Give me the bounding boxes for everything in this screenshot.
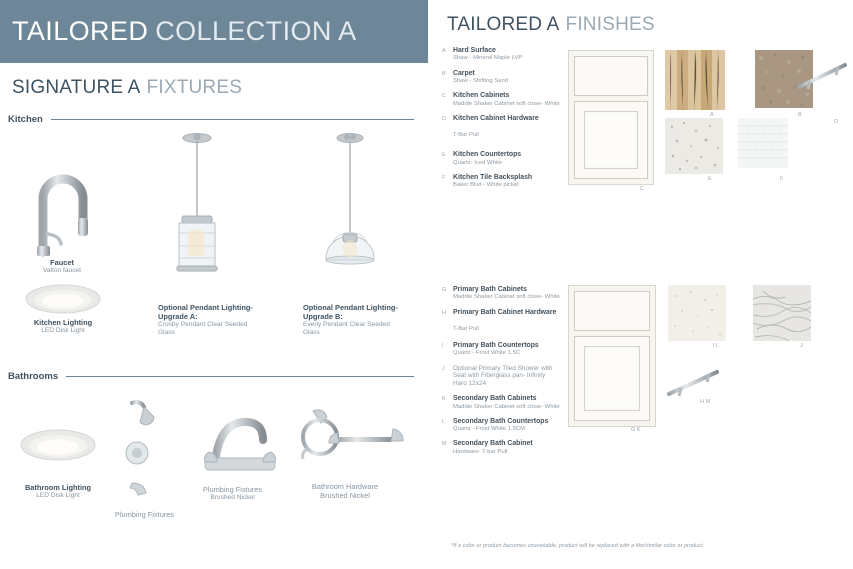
kitchen-cabinet-door-swatch: [568, 50, 654, 185]
legend-title: Kitchen Tile Backsplash: [453, 174, 560, 182]
legend-sub: Maddie Shaker Cabinet soft close- White: [453, 294, 560, 301]
legend-key: K: [442, 395, 453, 411]
finishes-legend-bottom: G Primary Bath Cabinets Maddie Shaker Ca…: [442, 286, 560, 463]
legend-key: G: [442, 286, 453, 302]
swatch-key-gk: G K: [631, 427, 640, 433]
left-panel: TAILORED COLLECTION A SIGNATURE A FIXTUR…: [0, 0, 428, 569]
swatch-key-f: F: [780, 176, 783, 182]
plumbing-fixtures-caption-2: Plumbing Fixtures Brushed Nickel: [185, 485, 280, 502]
signature-fixtures-heading: SIGNATURE A FIXTURES: [12, 77, 242, 99]
bath-cabinet-door-swatch: [568, 285, 656, 427]
legend-item: E Kitchen Countertops Quartz- Iced White: [442, 151, 560, 167]
swatch-key-e: E: [708, 176, 712, 182]
disk-light-icon: [25, 283, 101, 315]
legend-sub: Maddie Shaker Cabinet soft close- White: [453, 404, 560, 411]
collection-title-bar: TAILORED COLLECTION A: [0, 0, 428, 63]
disclaimer-text: *If a color or product becomes unavailab…: [451, 543, 704, 549]
legend-sub: Shaw - Shifting Sand: [453, 78, 560, 85]
legend-sub: Quartz - Frost White 1.5C: [453, 350, 560, 357]
kitchen-backsplash-swatch: [738, 118, 788, 168]
legend-item: H Primary Bath Cabinet Hardware T-Bar Pu…: [442, 309, 560, 335]
kitchen-label-text: Kitchen: [8, 114, 43, 125]
bath-cabinet-door-panel: [574, 336, 650, 421]
kitchen-countertop-swatch: [665, 118, 723, 174]
pendant-a-name: Optional Pendant Lighting- Upgrade A:: [158, 303, 258, 321]
legend-item: D Kitchen Cabinet Hardware T-Bar Pull: [442, 115, 560, 141]
collection-title-bold: TAILORED: [0, 16, 148, 47]
legend-item: C Kitchen Cabinets Maddie Shaker Cabinet…: [442, 92, 560, 108]
legend-sub: Baker Blvd - White picket: [453, 182, 560, 189]
legend-key: L: [442, 418, 453, 434]
legend-item: M Secondary Bath Cabinet Hardware- T-bar…: [442, 440, 560, 456]
legend-item: J Optional Primary Tiled Shower with Sea…: [442, 365, 560, 388]
towel-ring-bar-icon: [295, 405, 405, 470]
right-panel: TAILORED A FINISHES A Hard Surface Shaw …: [428, 0, 853, 569]
swatch-key-j: J: [800, 343, 803, 349]
pendant-b-caption: Optional Pendant Lighting- Upgrade B: Ev…: [303, 303, 405, 337]
legend-title: Kitchen Cabinets: [453, 92, 560, 100]
swatch-key-d: D: [834, 119, 838, 125]
plumbing-fixtures-name-1: Plumbing Fixtures: [97, 510, 192, 519]
plumbing-fixtures-caption-1: Plumbing Fixtures: [97, 510, 192, 519]
bathrooms-divider: [66, 376, 414, 377]
legend-title: Primary Bath Cabinet Hardware: [453, 309, 560, 317]
swatch-key-il: I L: [713, 343, 719, 349]
lavatory-faucet-icon: [195, 400, 285, 480]
swatch-key-hm: H M: [700, 399, 710, 405]
legend-item: F Kitchen Tile Backsplash Baker Blvd - W…: [442, 174, 560, 190]
swatch-key-c: C: [640, 186, 644, 192]
pendant-b-name: Optional Pendant Lighting- Upgrade B:: [303, 303, 405, 321]
legend-title: Secondary Bath Countertops: [453, 418, 560, 426]
legend-title: Kitchen Countertops: [453, 151, 560, 159]
kitchen-lighting-name: Kitchen Lighting: [18, 318, 108, 327]
collection-title-light: COLLECTION A: [155, 16, 356, 47]
legend-sub: Hardware- T-bar Pull: [453, 449, 560, 456]
legend-key: E: [442, 151, 453, 167]
legend-title: Hard Surface: [453, 47, 560, 55]
legend-key: H: [442, 309, 453, 335]
finishes-heading: TAILORED A FINISHES: [447, 14, 655, 36]
finishes-heading-bold: TAILORED A: [447, 14, 560, 36]
kitchen-divider: [51, 119, 414, 120]
legend-item: G Primary Bath Cabinets Maddie Shaker Ca…: [442, 286, 560, 302]
legend-item: A Hard Surface Shaw - Mineral Maple LVP: [442, 47, 560, 63]
legend-sub: T-Bar Pull: [453, 132, 479, 138]
bath-disk-light-icon: [20, 428, 96, 462]
legend-title: Primary Bath Countertops: [453, 342, 560, 350]
faucet-name: Faucet: [22, 258, 102, 267]
legend-title: Secondary Bath Cabinets: [453, 395, 560, 403]
finishes-heading-light: FINISHES: [566, 14, 655, 36]
bathroom-lighting-detail: LED Disk Light: [15, 492, 101, 500]
legend-sub: T-Bar Pull: [453, 326, 479, 332]
bathroom-lighting-name: Bathroom Lighting: [15, 483, 101, 492]
signature-heading-light: FIXTURES: [147, 77, 243, 99]
legend-title: Kitchen Cabinet Hardware: [453, 115, 560, 123]
legend-title: Carpet: [453, 70, 560, 78]
collection-sheet: TAILORED COLLECTION A SIGNATURE A FIXTUR…: [0, 0, 853, 569]
faucet-detail: Valton faucet: [22, 267, 102, 275]
kitchen-t-bar-pull-swatch: [793, 55, 851, 97]
finishes-legend-top: A Hard Surface Shaw - Mineral Maple LVP …: [442, 47, 560, 197]
legend-key: F: [442, 174, 453, 190]
plumbing-fixtures-name-2: Plumbing Fixtures: [185, 485, 280, 494]
legend-sub: Maddie Shaker Cabinet soft close- White: [453, 101, 560, 108]
legend-sub: Shaw - Mineral Maple LVP: [453, 55, 560, 62]
pendant-a-caption: Optional Pendant Lighting- Upgrade A: Cr…: [158, 303, 258, 337]
bathroom-lighting-caption: Bathroom Lighting LED Disk Light: [15, 483, 101, 500]
kitchen-section-label: Kitchen: [8, 114, 414, 125]
legend-item: I Primary Bath Countertops Quartz - Fros…: [442, 342, 560, 358]
kitchen-lighting-detail: LED Disk Light: [18, 327, 108, 335]
signature-heading-bold: SIGNATURE A: [12, 77, 141, 99]
legend-sub: Quartz- Iced White: [453, 160, 560, 167]
bath-cabinet-door-inner-panel: [584, 346, 640, 411]
bathrooms-label-text: Bathrooms: [8, 371, 58, 382]
bath-t-bar-pull-swatch: [663, 362, 723, 404]
pendant-a-detail: Crosby Pendant Clear Seeded Glass: [158, 321, 258, 337]
legend-key: D: [442, 115, 453, 141]
legend-title: Primary Bath Cabinets: [453, 286, 560, 294]
legend-title: Optional Primary Tiled Shower with Seat …: [453, 365, 560, 388]
hard-surface-swatch: [665, 50, 725, 110]
pendant-b-detail: Everly Pendant Clear Seeded Glass: [303, 321, 405, 337]
pendant-light-a-icon: [160, 130, 234, 280]
shower-tile-swatch: [753, 285, 811, 341]
legend-key: B: [442, 70, 453, 86]
swatch-key-b: B: [798, 112, 802, 118]
plumbing-fixtures-detail-2: Brushed Nickel: [185, 494, 280, 502]
bathrooms-section-label: Bathrooms: [8, 371, 414, 382]
legend-key: A: [442, 47, 453, 63]
legend-item: L Secondary Bath Countertops Quartz - Fr…: [442, 418, 560, 434]
bathroom-hardware-caption: Bathroom Hardware Brushed Nickel: [290, 482, 400, 500]
cabinet-drawer-front: [574, 56, 648, 96]
bathroom-hardware-detail: Brushed Nickel: [290, 491, 400, 500]
shower-tub-trim-icon: [110, 395, 180, 505]
legend-key: C: [442, 92, 453, 108]
kitchen-faucet-icon: [25, 148, 99, 258]
legend-key: I: [442, 342, 453, 358]
pendant-light-b-icon: [310, 130, 390, 280]
legend-item: B Carpet Shaw - Shifting Sand: [442, 70, 560, 86]
bathroom-hardware-name: Bathroom Hardware: [290, 482, 400, 491]
legend-key: M: [442, 440, 453, 456]
legend-title: Secondary Bath Cabinet: [453, 440, 560, 448]
bath-countertop-swatch: [668, 285, 726, 341]
cabinet-door-inner-panel: [584, 111, 638, 169]
faucet-caption: Faucet Valton faucet: [22, 258, 102, 275]
legend-item: K Secondary Bath Cabinets Maddie Shaker …: [442, 395, 560, 411]
cabinet-door-panel: [574, 101, 648, 179]
bath-cabinet-drawer-front: [574, 291, 650, 331]
legend-key: J: [442, 365, 453, 388]
kitchen-lighting-caption: Kitchen Lighting LED Disk Light: [18, 318, 108, 335]
legend-sub: Quartz - Frost White 1.5CM: [453, 426, 560, 433]
